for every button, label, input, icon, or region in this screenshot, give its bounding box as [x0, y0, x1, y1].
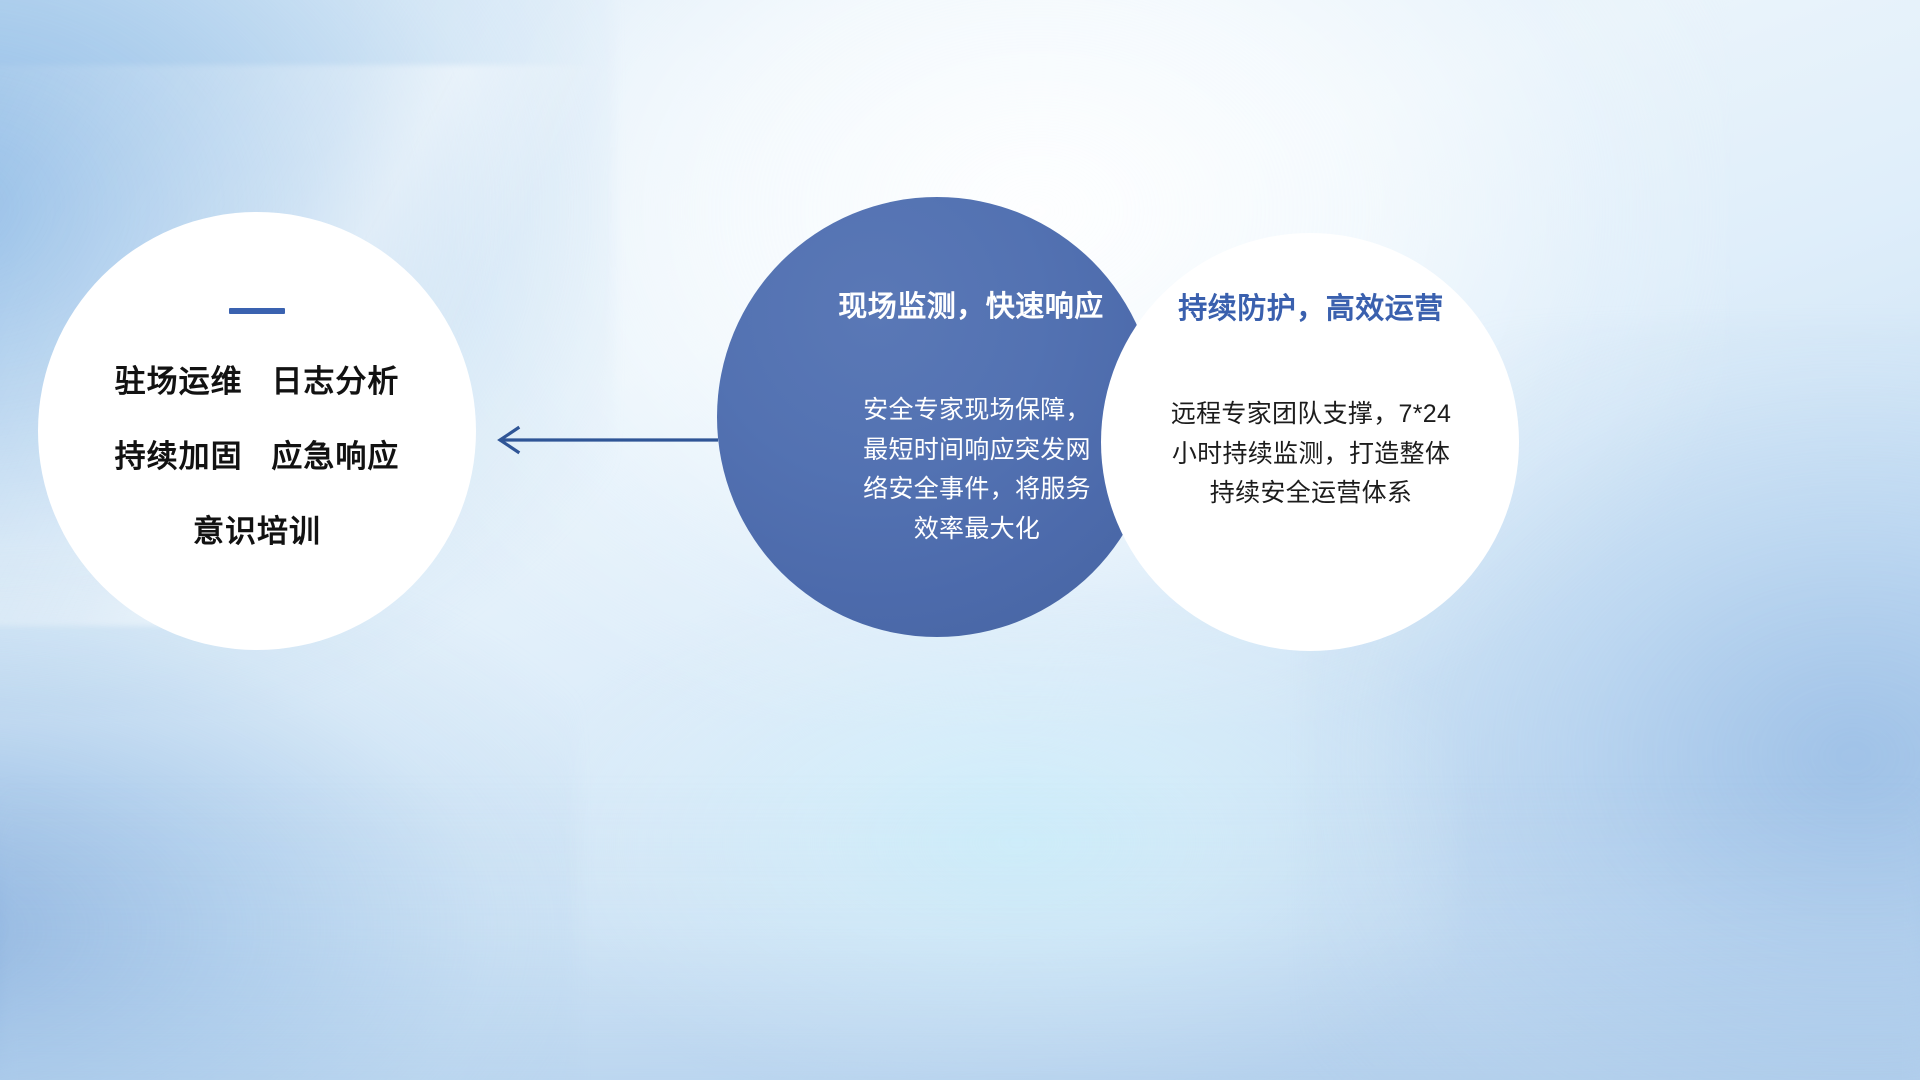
capabilities-content: 驻场运维 日志分析 持续加固 应急响应 意识培训	[38, 308, 476, 547]
continuous-protection-circle[interactable]: 持续防护，高效运营 远程专家团队支撑，7*24 小时持续监测，打造整体 持续安全…	[1101, 233, 1519, 651]
onsite-body-line: 安全专家现场保障，	[801, 391, 1153, 431]
onsite-body-line: 络安全事件，将服务	[801, 470, 1153, 510]
left-arrow-connector	[480, 415, 720, 465]
onsite-content: 现场监测，快速响应 安全专家现场保障， 最短时间响应突发网 络安全事件，将服务 …	[743, 283, 1147, 549]
capabilities-line-2: 持续加固 应急响应	[38, 441, 476, 472]
accent-dash-icon	[229, 308, 285, 314]
onsite-body-line: 效率最大化	[801, 510, 1153, 550]
continuous-body: 远程专家团队支撑，7*24 小时持续监测，打造整体 持续安全运营体系	[1119, 395, 1503, 514]
background-blue-bottom	[0, 778, 1920, 1080]
onsite-body: 安全专家现场保障， 最短时间响应突发网 络安全事件，将服务 效率最大化	[801, 391, 1153, 549]
slide-canvas: 驻场运维 日志分析 持续加固 应急响应 意识培训 现场监测，快速响应 安全专家现…	[0, 0, 1920, 1080]
onsite-title: 现场监测，快速响应	[795, 283, 1147, 325]
capabilities-circle[interactable]: 驻场运维 日志分析 持续加固 应急响应 意识培训	[38, 212, 476, 650]
continuous-content: 持续防护，高效运营 远程专家团队支撑，7*24 小时持续监测，打造整体 持续安全…	[1119, 285, 1503, 514]
capabilities-line-3: 意识培训	[38, 516, 476, 547]
onsite-monitoring-circle[interactable]: 现场监测，快速响应 安全专家现场保障， 最短时间响应突发网 络安全事件，将服务 …	[717, 197, 1157, 637]
continuous-title: 持续防护，高效运营	[1119, 285, 1503, 327]
capabilities-line-1: 驻场运维 日志分析	[38, 366, 476, 397]
continuous-body-line: 小时持续监测，打造整体	[1119, 435, 1503, 475]
continuous-body-line: 远程专家团队支撑，7*24	[1119, 395, 1503, 435]
continuous-body-line: 持续安全运营体系	[1119, 474, 1503, 514]
